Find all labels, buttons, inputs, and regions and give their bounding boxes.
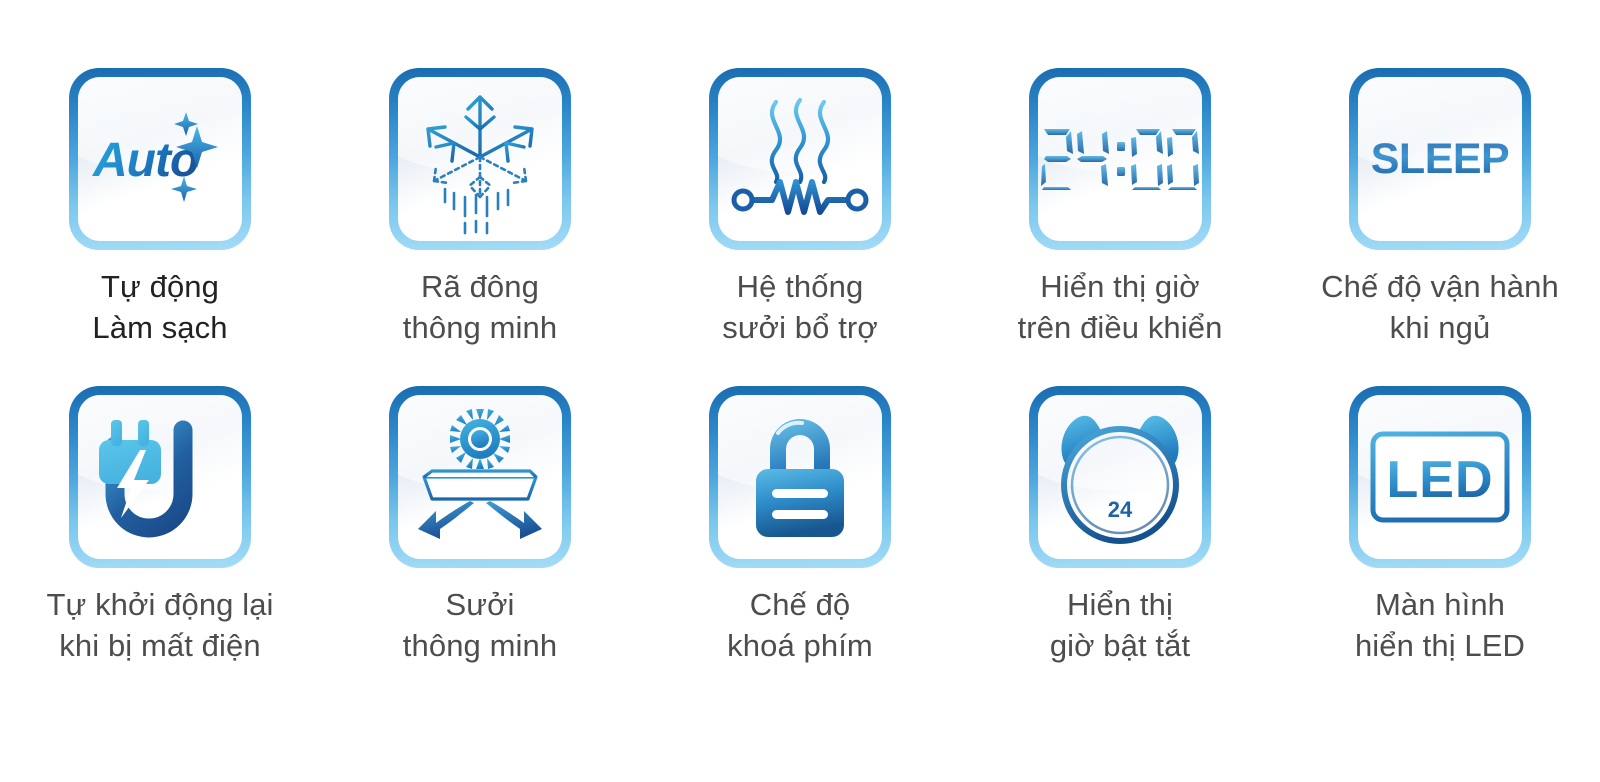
clock-24-label: 24	[1108, 497, 1133, 522]
sun-airflow-icon	[398, 395, 562, 559]
seven-segment-digits	[1041, 129, 1199, 190]
feature-caption: Sưởi thông minh	[403, 584, 557, 666]
feature-item-auto-restart[interactable]: Tự khởi động lại khi bị mất điện	[0, 386, 320, 704]
feature-caption: Rã đông thông minh	[403, 266, 557, 348]
tile-surface: SLEEP	[1358, 77, 1522, 241]
terminal-left-icon	[734, 191, 752, 209]
tile-on-off-timer[interactable]: 24	[1029, 386, 1211, 568]
tile-surface: LED	[1358, 395, 1522, 559]
ac-indoor-unit-icon	[424, 471, 536, 499]
tile-surface: Auto	[78, 77, 242, 241]
feature-caption: Hệ thống sưởi bổ trợ	[722, 266, 878, 348]
tile-auxiliary-heating[interactable]	[709, 68, 891, 250]
heat-wave-lines	[772, 100, 828, 182]
sun-icon	[450, 409, 510, 469]
feature-item-sleep-mode[interactable]: SLEEP Chế độ vận hành khi ngủ	[1280, 68, 1600, 386]
padlock-icon	[718, 395, 882, 559]
feature-caption: Màn hình hiển thị LED	[1355, 584, 1525, 666]
alarm-clock-icon: 24	[1038, 395, 1202, 559]
feature-caption: Chế độ vận hành khi ngủ	[1321, 266, 1559, 348]
tile-smart-heating[interactable]	[389, 386, 571, 568]
terminal-right-icon	[848, 191, 866, 209]
plug-pin-left-icon	[111, 420, 122, 446]
tile-surface	[718, 395, 882, 559]
feature-item-smart-heating[interactable]: Sưởi thông minh	[320, 386, 640, 704]
snowflake-defrost-icon	[398, 77, 562, 241]
led-wordmark: LED	[1387, 451, 1494, 509]
feature-item-clock-display[interactable]: Hiển thị giờ trên điều khiển	[960, 68, 1280, 386]
auto-clean-icon: Auto	[78, 77, 242, 241]
airflow-arrows-icon	[418, 501, 542, 539]
feature-caption: Tự khởi động lại khi bị mất điện	[46, 584, 273, 666]
sleep-wordmark: SLEEP	[1371, 135, 1510, 183]
plug-pin-right-icon	[138, 420, 149, 446]
tile-sleep-mode[interactable]: SLEEP	[1349, 68, 1531, 250]
sleep-icon: SLEEP	[1358, 77, 1522, 241]
feature-item-led-display[interactable]: LED Màn hình hiển thị LED	[1280, 386, 1600, 704]
feature-item-auxiliary-heating[interactable]: Hệ thống sưởi bổ trợ	[640, 68, 960, 386]
tile-auto-clean[interactable]: Auto	[69, 68, 251, 250]
feature-item-auto-clean[interactable]: Auto Tự động Làm sạch	[0, 68, 320, 386]
lock-slot-bottom	[772, 510, 828, 519]
tile-smart-defrost[interactable]	[389, 68, 571, 250]
lock-slot-top	[772, 489, 828, 498]
heating-element-icon	[718, 77, 882, 241]
padlock-body	[756, 469, 844, 537]
feature-caption: Chế độ khoá phím	[727, 584, 873, 666]
plug-restart-icon	[78, 395, 242, 559]
feature-caption: Hiển thị giờ bật tắt	[1050, 584, 1190, 666]
tile-surface	[398, 395, 562, 559]
tile-led-display[interactable]: LED	[1349, 386, 1531, 568]
drip-lines-icon	[445, 189, 508, 233]
feature-caption: Tự động Làm sạch	[92, 266, 227, 348]
feature-item-on-off-timer[interactable]: 24 Hiển thị giờ bật tắt	[960, 386, 1280, 704]
snowflake-top-half	[428, 97, 532, 161]
sparkle-small-top-icon	[174, 112, 198, 136]
feature-caption: Hiển thị giờ trên điều khiển	[1018, 266, 1223, 348]
digital-clock-icon	[1038, 77, 1202, 241]
auto-clean-wordmark: Auto	[92, 134, 198, 187]
tile-surface: 24	[1038, 395, 1202, 559]
padlock-shackle	[770, 419, 830, 475]
tile-surface	[1038, 77, 1202, 241]
tile-surface	[398, 77, 562, 241]
clock-hands	[1120, 445, 1157, 485]
tile-auto-restart[interactable]	[69, 386, 251, 568]
feature-item-key-lock[interactable]: Chế độ khoá phím	[640, 386, 960, 704]
tile-surface	[718, 77, 882, 241]
tile-surface	[78, 395, 242, 559]
tile-clock-display[interactable]	[1029, 68, 1211, 250]
led-screen-icon: LED	[1358, 395, 1522, 559]
tile-key-lock[interactable]	[709, 386, 891, 568]
feature-grid: Auto Tự động Làm sạch	[0, 0, 1600, 782]
feature-item-smart-defrost[interactable]: Rã đông thông minh	[320, 68, 640, 386]
resistor-element	[734, 182, 866, 212]
snowflake-melting-half	[434, 157, 526, 197]
